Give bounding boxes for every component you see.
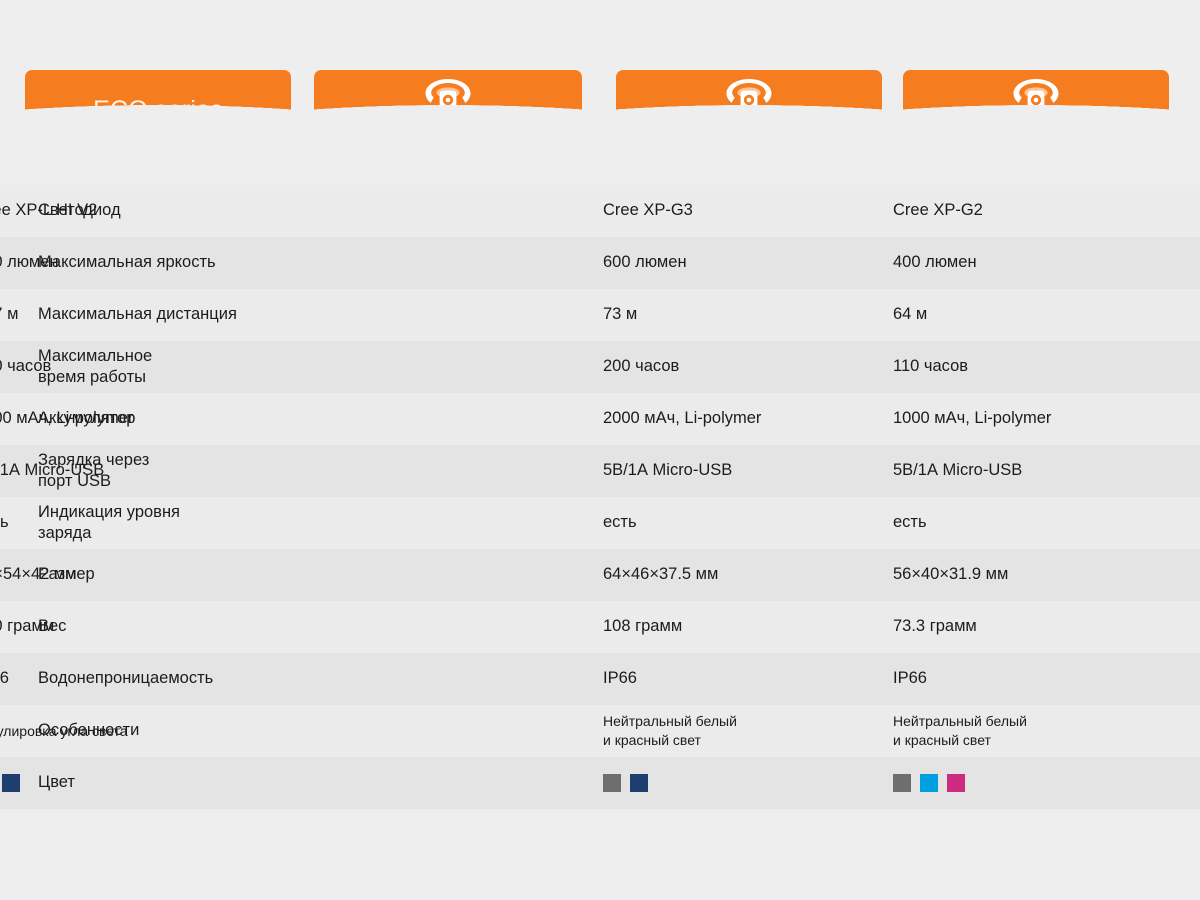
spec-value: 108 грамм — [603, 616, 682, 637]
spec-value-cell: 147 м — [290, 289, 593, 341]
headlamp-icon — [903, 70, 1169, 118]
spec-value-cell: 400 люмен — [883, 237, 1200, 289]
spec-value-cell: 200 часов — [290, 341, 593, 393]
table-row: ОсобенностиРегулировка угла светаНейтрал… — [0, 705, 1200, 757]
banner-model-hl32r[interactable]: HL32R — [616, 70, 882, 162]
spec-value: есть — [603, 512, 637, 533]
spec-value: 130 грамм — [0, 616, 54, 637]
model-name-hl12r: HL12R — [903, 120, 1169, 149]
spec-value-cell: 1000 мАч, Li-polymer — [883, 393, 1200, 445]
table-row: Индикация уровня зарядаестьестьесть — [0, 497, 1200, 549]
spec-value: IP66 — [603, 668, 637, 689]
spec-value: 147 м — [0, 304, 18, 325]
table-row: Вес130 грамм108 грамм73.3 грамм — [0, 601, 1200, 653]
table-row: Аккумулятор2000 мАч, Li-polymer2000 мАч,… — [0, 393, 1200, 445]
spec-value-cell — [883, 757, 1200, 809]
color-swatch-group — [0, 774, 20, 792]
spec-value: 110 часов — [893, 356, 968, 377]
spec-value-cell: 56×40×31.9 мм — [883, 549, 1200, 601]
spec-value-cell: 64×46×37.5 мм — [593, 549, 883, 601]
spec-value: 64×46×37.5 мм — [603, 564, 718, 585]
spec-value-cell: 64 м — [883, 289, 1200, 341]
spec-label: Индикация уровня заряда — [38, 502, 180, 544]
banner-eco-series: ECO series — [25, 70, 291, 162]
spec-value: 5В/1А Micro-USB — [893, 460, 1022, 481]
headlamp-icon — [616, 70, 882, 118]
spec-value: 64 м — [893, 304, 927, 325]
spec-value: 2000 мАч, Li-polymer — [603, 408, 761, 429]
model-name-hl40r: HL40R — [314, 120, 582, 149]
spec-value-cell: Нейтральный белый и красный свет — [883, 705, 1200, 757]
series-title: ECO series — [25, 70, 291, 125]
spec-label: Максимальная дистанция — [38, 304, 237, 325]
table-row: Максимальная дистанция147 м73 м64 м — [0, 289, 1200, 341]
spec-value-cell: 600 люмен — [290, 237, 593, 289]
spec-value-cell: 200 часов — [593, 341, 883, 393]
spec-value-cell: есть — [883, 497, 1200, 549]
banner-model-hl40r[interactable]: HL40R — [314, 70, 582, 162]
spec-label: Максимальное время работы — [38, 346, 152, 388]
spec-value: 1000 мАч, Li-polymer — [893, 408, 1051, 429]
spec-value: есть — [893, 512, 927, 533]
color-swatch[interactable] — [920, 774, 938, 792]
spec-value-cell: 2000 мАч, Li-polymer — [593, 393, 883, 445]
spec-value-cell: 5В/1А Micro-USB — [883, 445, 1200, 497]
color-swatch[interactable] — [603, 774, 621, 792]
spec-value: есть — [0, 512, 9, 533]
spec-value-cell: 5В/1А Micro-USB — [593, 445, 883, 497]
spec-value-cell: 73.3 грамм — [883, 601, 1200, 653]
spec-value: 600 люмен — [0, 252, 59, 273]
table-row: СветодиодCree XP-L HI V2Cree XP-G3Cree X… — [0, 185, 1200, 237]
spec-value-cell: 108 грамм — [593, 601, 883, 653]
table-row: Зарядка через порт USB5В/1А Micro-USB5В/… — [0, 445, 1200, 497]
spec-value-cell: IP66 — [290, 653, 593, 705]
table-row: Максимальное время работы200 часов200 ча… — [0, 341, 1200, 393]
spec-value-cell: 600 люмен — [593, 237, 883, 289]
spec-value-cell: есть — [290, 497, 593, 549]
spec-value-cell: Cree XP-G3 — [593, 185, 883, 237]
spec-value: 56×40×31.9 мм — [893, 564, 1008, 585]
spec-value-cell: 73 м — [593, 289, 883, 341]
spec-value: 73.3 грамм — [893, 616, 977, 637]
spec-value-cell: Нейтральный белый и красный свет — [593, 705, 883, 757]
table-row-color: Цвет — [0, 757, 1200, 809]
color-swatch[interactable] — [2, 774, 20, 792]
spec-value: 200 часов — [0, 356, 51, 377]
spec-value-cell: 68×54×42 мм — [290, 549, 593, 601]
color-swatch-group — [893, 774, 965, 792]
spec-value-cell: 2000 мАч, Li-polymer — [290, 393, 593, 445]
banner-model-hl12r[interactable]: HL12R — [903, 70, 1169, 162]
spec-label: Максимальная яркость — [38, 252, 216, 273]
spec-value-cell: IP66 — [883, 653, 1200, 705]
spec-value-cell — [593, 757, 883, 809]
spec-value-cell: 130 грамм — [290, 601, 593, 653]
specifications-table-body: СветодиодCree XP-L HI V2Cree XP-G3Cree X… — [0, 185, 1200, 809]
spec-value-cell: 5В/1А Micro-USB — [290, 445, 593, 497]
color-swatch-group — [603, 774, 648, 792]
spec-value: IP66 — [893, 668, 927, 689]
spec-value: 5В/1А Micro-USB — [0, 460, 104, 481]
specifications-table: СветодиодCree XP-L HI V2Cree XP-G3Cree X… — [0, 185, 1200, 809]
color-swatch[interactable] — [893, 774, 911, 792]
spec-value: 68×54×42 мм — [0, 564, 77, 585]
spec-value: Регулировка угла света — [0, 722, 128, 741]
product-banner-row: ECO series HL40R — [0, 70, 1200, 162]
spec-value: Нейтральный белый и красный свет — [893, 712, 1027, 750]
spec-value-cell: 110 часов — [883, 341, 1200, 393]
spec-value: 5В/1А Micro-USB — [603, 460, 732, 481]
spec-label: Водонепроницаемость — [38, 668, 213, 689]
table-row: ВодонепроницаемостьIP66IP66IP66 — [0, 653, 1200, 705]
spec-value-cell: Регулировка угла света — [290, 705, 593, 757]
table-row: Размер68×54×42 мм64×46×37.5 мм56×40×31.9… — [0, 549, 1200, 601]
spec-value: IP66 — [0, 668, 9, 689]
spec-value-cell: Cree XP-G2 — [883, 185, 1200, 237]
spec-value-cell: IP66 — [593, 653, 883, 705]
spec-value: 2000 мАч, Li-polymer — [0, 408, 133, 429]
color-swatch[interactable] — [947, 774, 965, 792]
spec-value: 600 люмен — [603, 252, 687, 273]
spec-value: 400 люмен — [893, 252, 977, 273]
spec-value: 73 м — [603, 304, 637, 325]
spec-value: Нейтральный белый и красный свет — [603, 712, 737, 750]
spec-value: Cree XP-G2 — [893, 200, 983, 221]
color-swatch[interactable] — [630, 774, 648, 792]
table-row: Максимальная яркость600 люмен600 люмен40… — [0, 237, 1200, 289]
spec-value-cell: Cree XP-L HI V2 — [290, 185, 593, 237]
model-name-hl32r: HL32R — [616, 120, 882, 149]
spec-label: Цвет — [38, 772, 75, 793]
spec-value-cell: есть — [593, 497, 883, 549]
spec-value: 200 часов — [603, 356, 679, 377]
headlamp-icon — [314, 70, 582, 118]
comparison-page: ECO series HL40R — [0, 0, 1200, 900]
spec-value: Cree XP-G3 — [603, 200, 693, 221]
spec-value-cell — [290, 757, 593, 809]
spec-value: Cree XP-L HI V2 — [0, 200, 97, 221]
